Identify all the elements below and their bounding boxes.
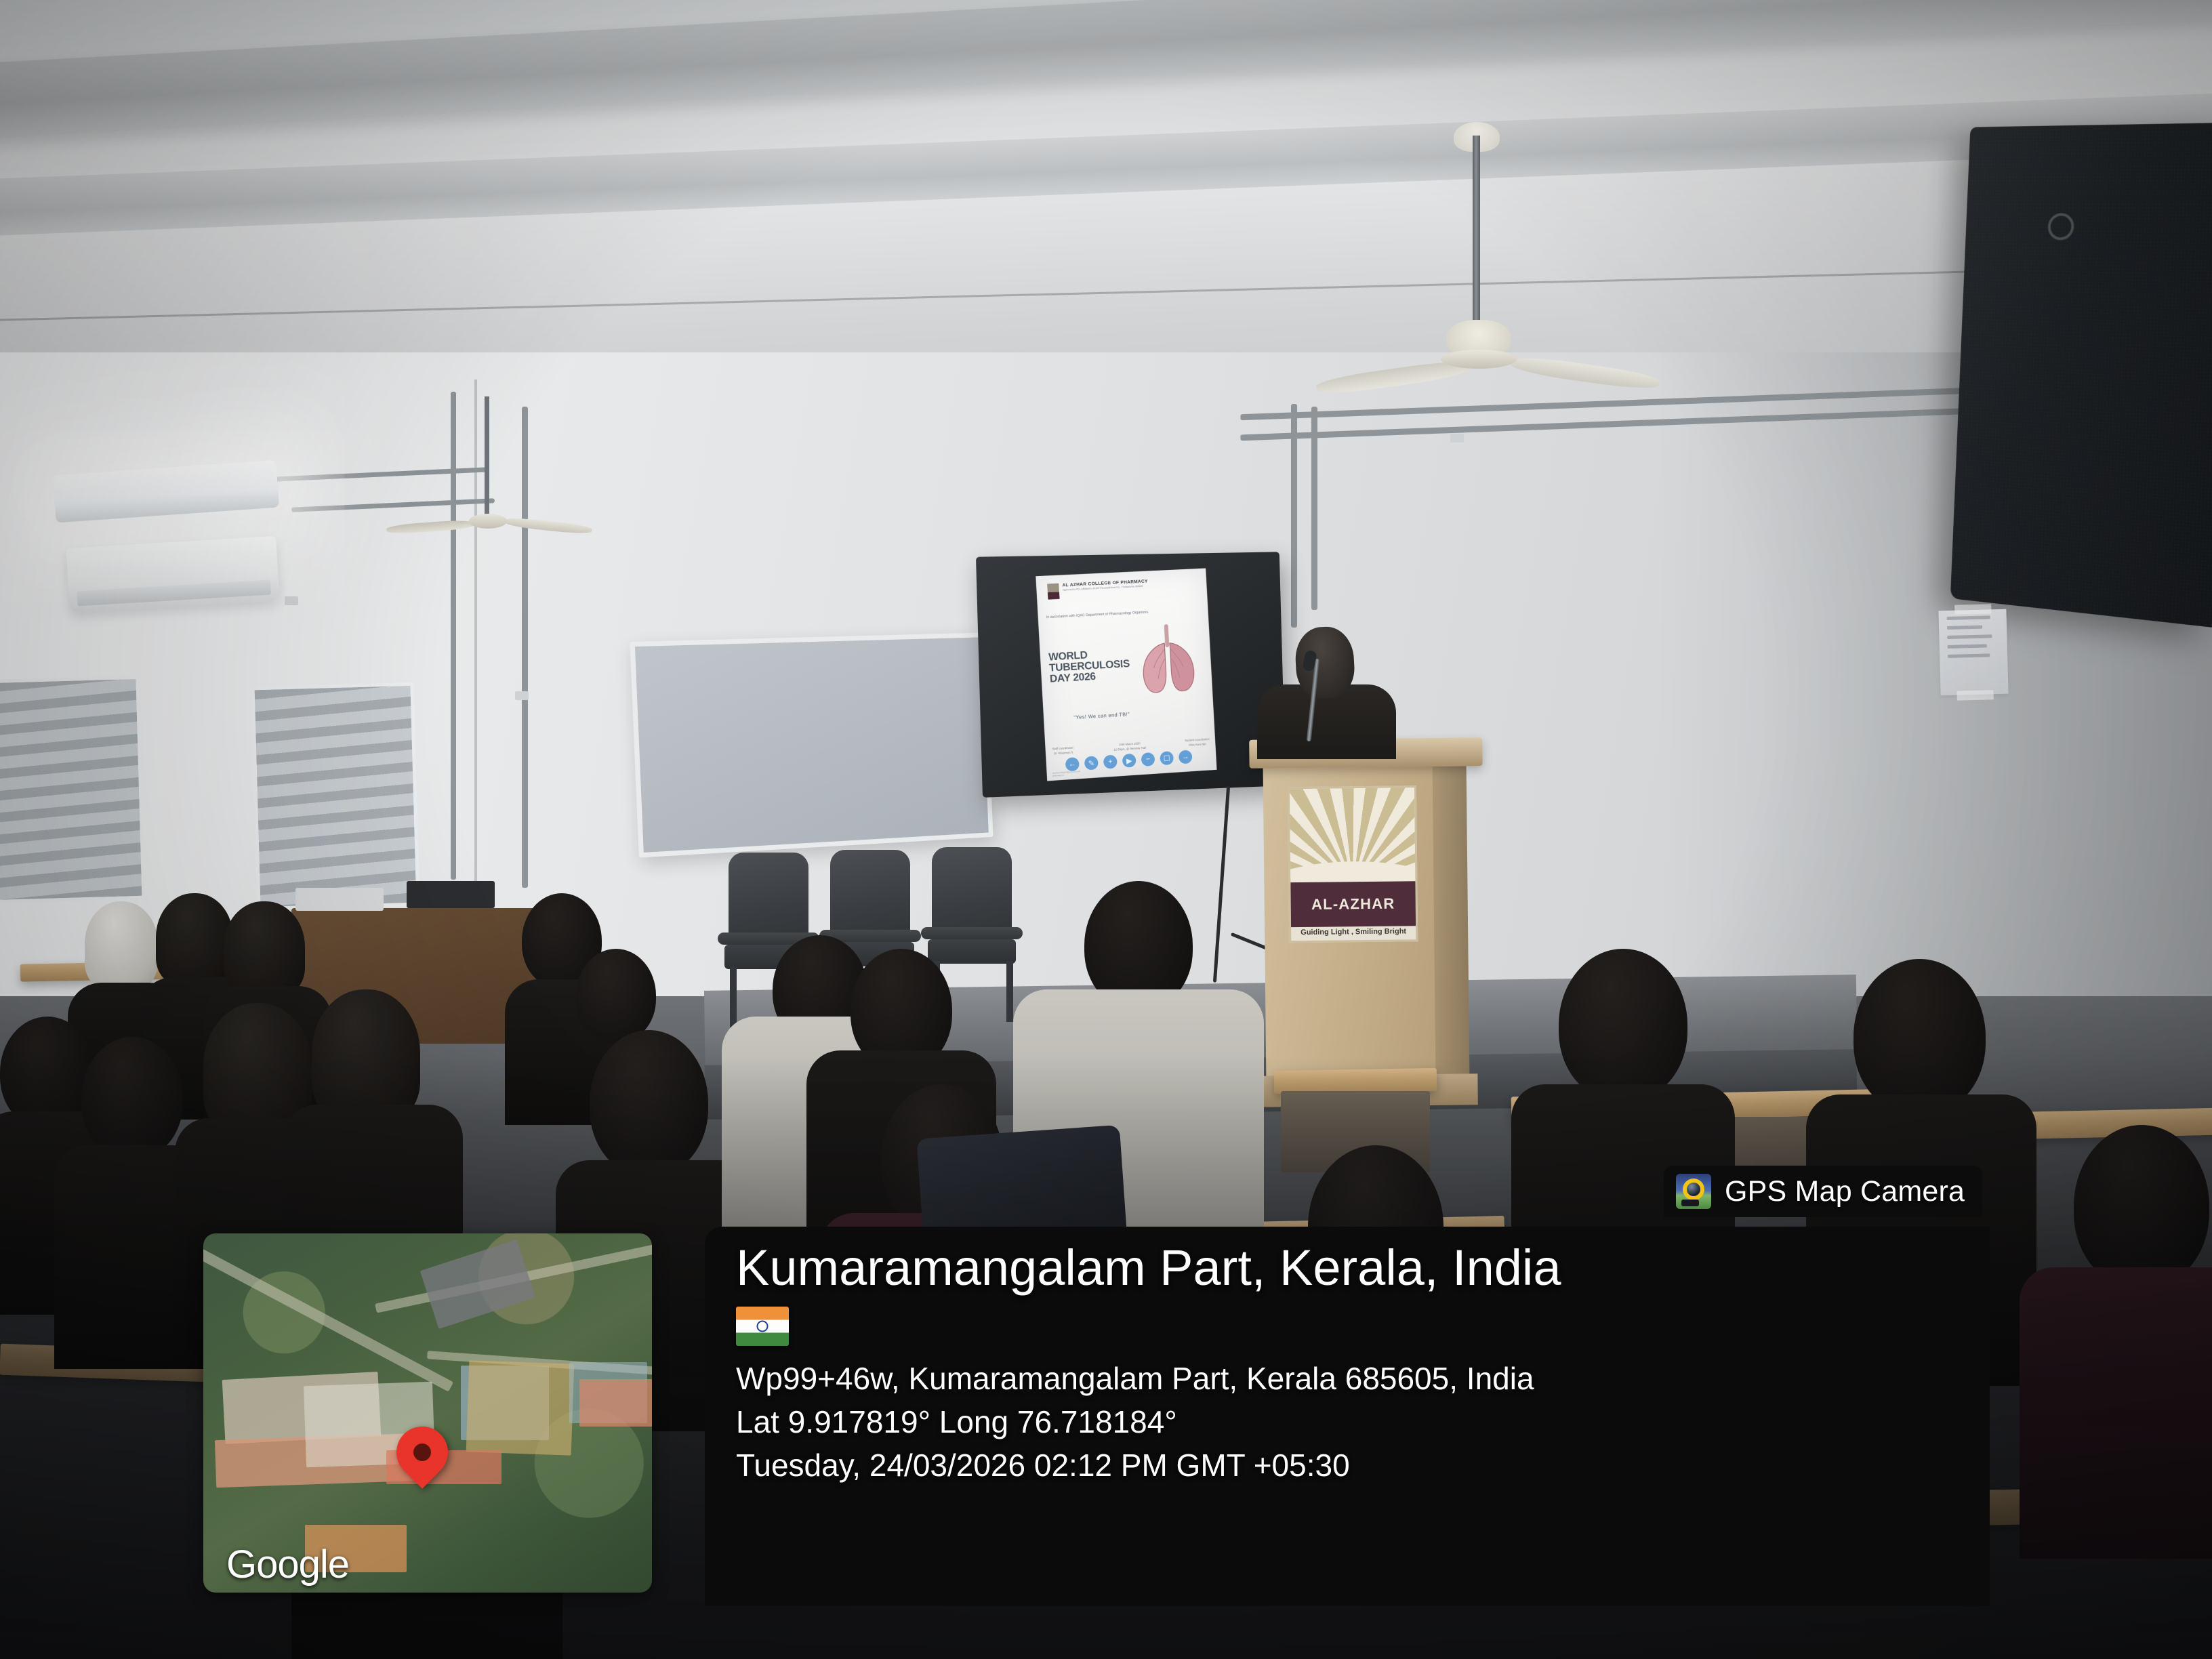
conduit-pipe [1291,404,1297,628]
student-coordinator-block: Student coordinator: Miss Aara Njn [1185,737,1210,747]
tape [1954,604,1991,614]
presentation-slide: AL AZHAR COLLEGE OF PHARMACY Approved by… [1036,569,1216,781]
car-icon [1681,1200,1699,1206]
slide-header: AL AZHAR COLLEGE OF PHARMACY Approved by… [1047,577,1203,600]
staff-coordinator-block: Staff coordinator: Dr. Ribumoni S [1052,746,1075,756]
location-address: Wp99+46w, Kumaramangalam Part, Kerala 68… [736,1357,1990,1400]
desk-equipment [407,881,495,908]
chair [729,853,808,954]
play-icon[interactable]: ▶ [1122,754,1136,768]
audience-head [576,949,656,1042]
forward-arrow-icon[interactable]: → [1179,750,1193,764]
duplicate-icon[interactable]: ☐ [1160,751,1174,765]
pipe-clip [1450,434,1464,443]
google-watermark: Google [226,1542,349,1587]
slide-association: In association with IQAC Department of P… [1046,610,1149,620]
map-road [203,1248,453,1391]
podium-brand-text: AL-AZHAR [1311,895,1395,914]
ceiling-fan-hub [469,514,507,529]
map-thumbnail[interactable]: Google [203,1233,652,1593]
map-building [466,1360,575,1455]
back-arrow-icon[interactable]: ← [1065,757,1080,771]
camera-lens [1687,1183,1700,1196]
pipe-clip [515,691,529,700]
staff-coordinator-name: Dr. Ribumoni S [1052,750,1074,756]
podium-edge [1433,764,1470,1078]
event-time-block: 24th March 2026 12.00pm, @ Seminar Hall [1113,741,1146,752]
gps-map-camera-label: GPS Map Camera [1725,1175,1965,1208]
bench [1274,1068,1437,1094]
audience-head [224,901,305,996]
audience-head [312,989,420,1122]
notice-line [1947,626,1982,630]
whiteboard [630,632,993,857]
notice-line [1948,644,1987,649]
zoom-out-icon[interactable]: − [1141,752,1155,766]
audience-head [1559,949,1687,1101]
audience-head [156,893,233,985]
desk-printer [295,888,384,911]
location-place-name: Kumaramangalam Part, Kerala, India [736,1242,1990,1294]
pa-speaker [1950,123,2212,628]
chair [830,850,910,951]
window-blind [0,676,146,903]
notice-line [1947,615,1990,620]
pipe-clip [285,596,298,605]
college-logo-icon [1047,583,1059,600]
photo-canvas: AL AZHAR COLLEGE OF PHARMACY Approved by… [0,0,2212,1659]
projector-display: AL AZHAR COLLEGE OF PHARMACY Approved by… [976,552,1286,798]
location-details: Wp99+46w, Kumaramangalam Part, Kerala 68… [736,1357,1990,1488]
capture-datetime: Tuesday, 24/03/2026 02:12 PM GMT +05:30 [736,1443,1990,1487]
chair [932,847,1012,949]
tape [1957,690,1993,700]
window-blind [251,682,419,911]
ceiling-fan-hub [1441,350,1517,369]
ceiling-fan-rod [1473,136,1480,329]
zoom-in-icon[interactable]: + [1103,754,1118,769]
location-coordinates: Lat 9.917819° Long 76.718184° [736,1400,1990,1443]
ashoka-chakra-icon [757,1320,769,1332]
speaker-logo-icon [2047,213,2074,240]
map-building [579,1379,652,1427]
chair-arm [921,927,1023,939]
audience-head [2074,1125,2209,1288]
lungs-illustration [1134,621,1202,699]
student-coordinator-name: Miss Aara Njn [1185,741,1210,747]
gps-map-camera-badge: GPS Map Camera [1664,1166,1982,1217]
podium: AL-AZHAR Guiding Light , Smiling Bright [1257,737,1478,1105]
conduit-pipe [1311,407,1317,610]
pipe-clip [1735,407,1748,415]
audience-head [1853,959,1986,1115]
audience-body [2020,1267,2212,1559]
sunburst-icon [1290,787,1415,885]
podium-brand-plate: AL-AZHAR [1290,881,1416,927]
audience-head [85,901,158,989]
chair-leg [730,966,737,1027]
podium-tagline: Guiding Light , Smiling Bright [1291,927,1416,937]
ac-vent [77,579,271,606]
audience-head [590,1030,708,1176]
chair-seat [928,939,1016,964]
gps-info-panel: Kumaramangalam Part, Kerala, India Wp99+… [705,1227,1990,1606]
conduit-pipe [451,392,456,880]
conduit-pipe [522,407,528,888]
audience-head [81,1037,183,1159]
pen-icon[interactable]: ✎ [1084,756,1099,770]
slide-tagline: "Yes! We can end TB!" [1073,711,1130,720]
india-flag-icon [736,1307,789,1346]
podium-logo-panel: AL-AZHAR Guiding Light , Smiling Bright [1288,785,1418,943]
gps-map-camera-icon [1676,1174,1711,1209]
split-ac-unit [66,536,279,613]
notice-line [1947,634,1992,639]
map-building [420,1240,535,1329]
notice-line [1948,653,1990,658]
ceiling-fan-rod [485,396,489,518]
wall-notice [1938,609,2008,696]
wall-corner [474,380,477,881]
chair-leg [1006,961,1013,1022]
slide-title: WORLD TUBERCULOSIS DAY 2026 [1048,648,1131,684]
